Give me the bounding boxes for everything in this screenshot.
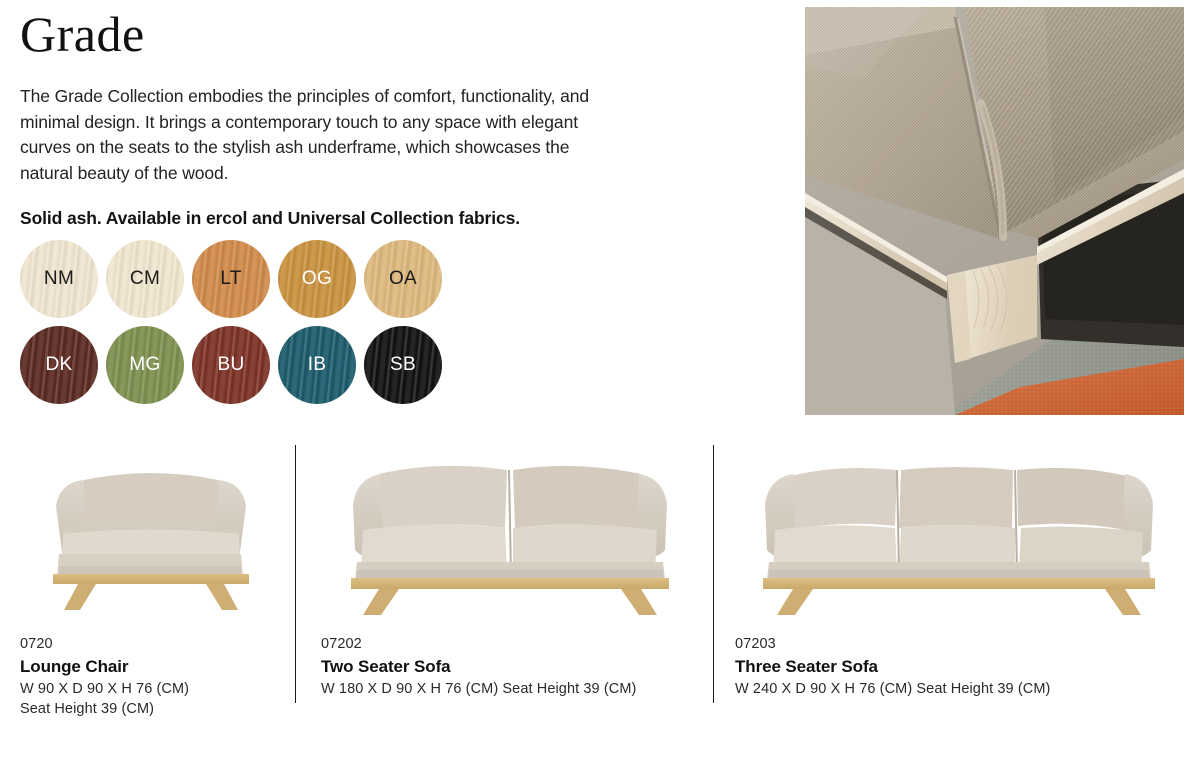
product-meta-two-seater-sofa: 07202 Two Seater Sofa W 180 X D 90 X H 7…: [321, 635, 699, 699]
collection-copy-block: Grade The Grade Collection embodies the …: [20, 6, 620, 230]
finish-swatch-grid: NM CM LT OG OA DK: [20, 240, 470, 404]
finish-swatch-bu[interactable]: BU: [192, 326, 270, 404]
product-dimensions: W 240 X D 90 X H 76 (CM) Seat Height 39 …: [735, 679, 1183, 699]
finish-code-label: OA: [389, 268, 417, 290]
sofa-corner-detail-illustration: [805, 7, 1184, 415]
finish-code-label: DK: [46, 354, 73, 376]
finish-code-label: OG: [302, 268, 332, 290]
finish-swatch-ib[interactable]: IB: [278, 326, 356, 404]
product-sku: 0720: [20, 635, 282, 654]
product-meta-lounge-chair: 0720 Lounge Chair W 90 X D 90 X H 76 (CM…: [20, 635, 282, 719]
product-image-lounge-chair: [20, 443, 282, 621]
finish-swatch-sb[interactable]: SB: [364, 326, 442, 404]
product-name: Three Seater Sofa: [735, 654, 1183, 679]
product-meta-three-seater-sofa: 07203 Three Seater Sofa W 240 X D 90 X H…: [735, 635, 1183, 699]
product-sku: 07203: [735, 635, 1183, 654]
finish-swatch-row-1: NM CM LT OG OA: [20, 240, 470, 318]
finish-code-label: CM: [130, 268, 160, 290]
two-seater-sofa-illustration: [335, 446, 685, 621]
finish-swatch-mg[interactable]: MG: [106, 326, 184, 404]
finish-code-label: MG: [129, 354, 160, 376]
finish-code-label: LT: [220, 268, 241, 290]
finish-swatch-lt[interactable]: LT: [192, 240, 270, 318]
collection-description: The Grade Collection embodies the princi…: [20, 84, 605, 186]
product-sku: 07202: [321, 635, 699, 654]
product-card-three-seater-sofa[interactable]: 07203 Three Seater Sofa W 240 X D 90 X H…: [735, 443, 1183, 699]
availability-note: Solid ash. Available in ercol and Univer…: [20, 206, 620, 230]
page-title: Grade: [20, 6, 620, 62]
finish-swatch-dk[interactable]: DK: [20, 326, 98, 404]
grade-collection-page: Grade The Grade Collection embodies the …: [0, 0, 1200, 757]
product-name: Lounge Chair: [20, 654, 282, 679]
product-card-lounge-chair[interactable]: 0720 Lounge Chair W 90 X D 90 X H 76 (CM…: [20, 443, 282, 719]
finish-swatch-oa[interactable]: OA: [364, 240, 442, 318]
product-image-two-seater-sofa: [321, 443, 699, 621]
product-name: Two Seater Sofa: [321, 654, 699, 679]
three-seater-sofa-illustration: [749, 446, 1169, 621]
product-seat-height: Seat Height 39 (CM): [20, 699, 282, 719]
product-dimensions: W 90 X D 90 X H 76 (CM): [20, 679, 282, 699]
hero-detail-image: [805, 7, 1184, 415]
product-variants-strip: 0720 Lounge Chair W 90 X D 90 X H 76 (CM…: [0, 443, 1200, 743]
finish-swatch-row-2: DK MG BU IB SB: [20, 326, 470, 404]
finish-code-label: SB: [390, 354, 416, 376]
finish-swatch-cm[interactable]: CM: [106, 240, 184, 318]
product-dimensions: W 180 X D 90 X H 76 (CM) Seat Height 39 …: [321, 679, 699, 699]
column-divider-2: [713, 445, 714, 703]
product-card-two-seater-sofa[interactable]: 07202 Two Seater Sofa W 180 X D 90 X H 7…: [321, 443, 699, 699]
finish-swatch-og[interactable]: OG: [278, 240, 356, 318]
finish-code-label: NM: [44, 268, 74, 290]
lounge-chair-illustration: [26, 446, 276, 621]
finish-swatch-nm[interactable]: NM: [20, 240, 98, 318]
product-image-three-seater-sofa: [735, 443, 1183, 621]
finish-code-label: IB: [308, 354, 327, 376]
finish-code-label: BU: [218, 354, 245, 376]
column-divider-1: [295, 445, 296, 703]
